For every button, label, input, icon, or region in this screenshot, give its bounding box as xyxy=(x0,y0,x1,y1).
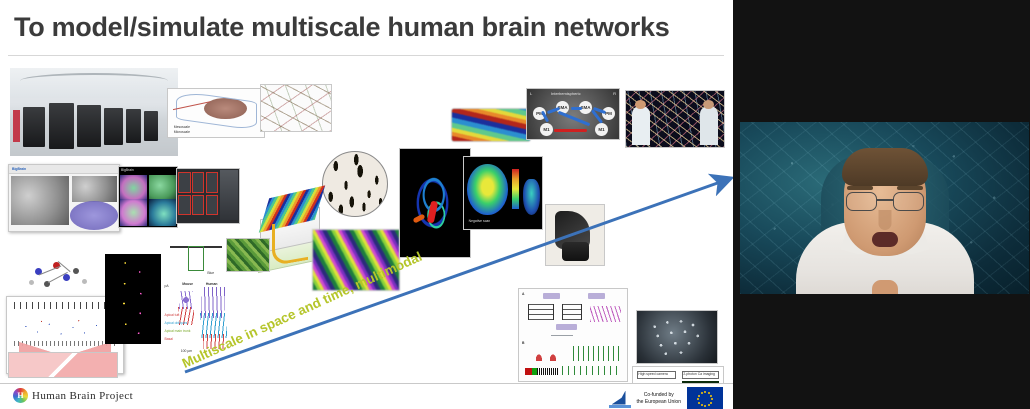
eu-funding-text: Co-funded by the European Union xyxy=(637,392,681,406)
slide-footer: Human Brain Project Co-funded by the Eur… xyxy=(0,384,733,409)
shared-slide: To model/simulate multiscale human brain… xyxy=(0,0,733,409)
eeg-cap-photo xyxy=(636,310,718,364)
eu-funding-line1: Co-funded by xyxy=(637,392,681,399)
eu-funding-line2: the European Union xyxy=(637,399,681,406)
eu-star xyxy=(704,391,706,393)
bigbrain-viewer-screenshot: BigBrain xyxy=(8,164,120,232)
conn-title: Interhemispheric xyxy=(551,91,581,96)
participant-video-tile[interactable] xyxy=(740,122,1029,294)
ebrains-icon xyxy=(609,391,631,408)
participant-hair xyxy=(842,148,928,186)
paper-panel-a-label: A xyxy=(522,292,524,296)
slide-content-canvas: Mesoscale Microscale BigBrain BigBrain xyxy=(0,56,733,383)
mouse-behaviour-setup-figure: High speed camera 2-photon Ca imaging Re… xyxy=(632,366,724,383)
eu-star xyxy=(710,395,712,397)
eu-star xyxy=(701,404,703,406)
tissue-thumbnail xyxy=(226,238,270,272)
participant-video-panel[interactable] xyxy=(733,0,1030,409)
electrode-array-photo xyxy=(545,204,605,266)
morph-label-apical-main-trunk: Apical main trunk xyxy=(164,329,190,333)
supercomputer-hall-photo xyxy=(10,68,178,156)
funding-logos: Co-funded by the European Union xyxy=(609,387,723,409)
hbp-project-name: Human Brain Project xyxy=(32,390,133,402)
hbp-logo: Human Brain Project xyxy=(13,388,133,403)
conn-right-marker: R xyxy=(613,91,616,96)
eu-flag-icon xyxy=(687,387,723,409)
eyebrow-right xyxy=(897,186,923,190)
conn-node-m1-right: M1 xyxy=(595,123,608,136)
morph-label-basal: Basal xyxy=(164,337,172,341)
waveform-thumbnail xyxy=(8,352,118,378)
paper-panel-b-label: B xyxy=(522,341,524,345)
morph-species-right: Human xyxy=(206,282,218,286)
eu-star xyxy=(711,398,713,400)
functional-brain-activation-map xyxy=(399,148,471,258)
eyebrow-left xyxy=(847,186,873,190)
cytoarchitecture-parcellation-panels: BigBrain xyxy=(118,166,178,228)
eu-star xyxy=(708,392,710,394)
glasses-icon xyxy=(846,192,924,212)
participant-mouth xyxy=(872,232,898,247)
eu-star xyxy=(704,405,706,407)
eu-star xyxy=(698,402,700,404)
participant-nose xyxy=(878,210,891,230)
eu-star xyxy=(710,402,712,404)
server-racks-photo xyxy=(176,168,240,224)
slide-title: To model/simulate multiscale human brain… xyxy=(14,12,714,46)
conn-left-marker: L xyxy=(530,91,532,96)
hbp-mark-icon xyxy=(13,388,28,403)
eu-star xyxy=(701,392,703,394)
dendritic-spine-imaging xyxy=(105,254,161,344)
histology-circle-section xyxy=(322,151,388,217)
morph-species-left: Mouse xyxy=(182,282,193,286)
vr-brain-visualisation-photo xyxy=(625,90,725,148)
morph-label-apical-obliques: Apical obliques xyxy=(164,321,187,325)
eu-star xyxy=(697,398,699,400)
mouse-fig-camera-label: High speed camera xyxy=(638,372,667,376)
pet-brain-scan: Negative scan xyxy=(463,156,543,230)
participant-hands xyxy=(872,280,898,294)
cortical-activity-heatmap-strip xyxy=(451,108,531,142)
eu-star xyxy=(698,395,700,397)
conn-node-m1-left: M1 xyxy=(540,123,553,136)
morph-label-apical-tuft: Apical tuft xyxy=(164,313,179,317)
brain-surface-schematic: Mesoscale Microscale xyxy=(167,88,265,138)
model-equations-figure: A B xyxy=(518,288,628,382)
mouse-fig-imaging-label: 2-photon Ca imaging xyxy=(683,372,714,376)
neuron-connectivity-network xyxy=(260,84,332,132)
interhemispheric-connectivity-diagram: L R Interhemispheric PM SMA SMA PM M1 M1 xyxy=(526,88,620,140)
video-conference-screen: To model/simulate multiscale human brain… xyxy=(0,0,1030,409)
eu-star xyxy=(708,404,710,406)
